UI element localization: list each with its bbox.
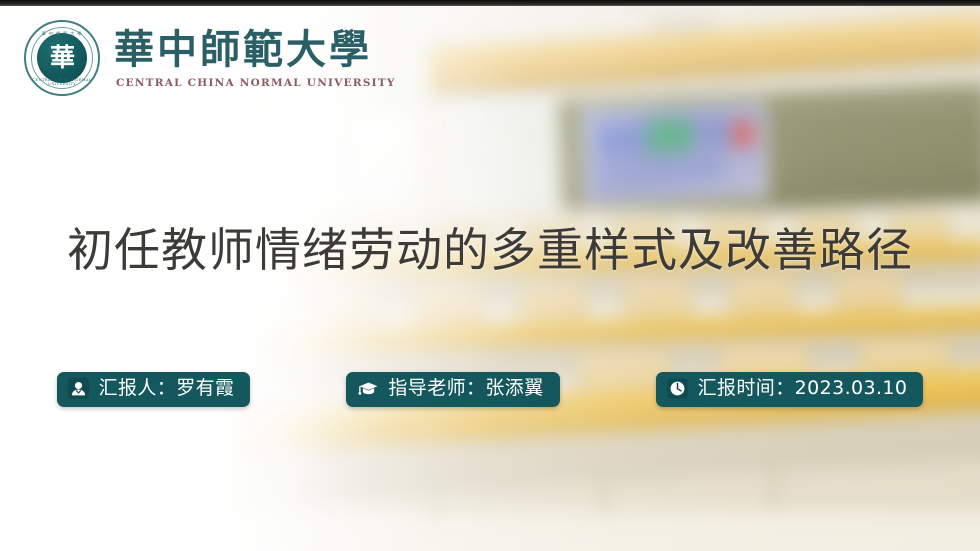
meta-badge-row: 汇报人：罗有霞 指导老师：张添翼 <box>0 372 980 407</box>
presenter-label: 汇报人：罗有霞 <box>99 377 235 401</box>
seal-bottom-text: CENTRAL CHINA NORMAL UNIVERSITY <box>26 78 98 86</box>
university-seal-icon: 華 中 師 範 大 學 華 CENTRAL CHINA NORMAL UNIVE… <box>24 20 100 96</box>
advisor-label: 指导老师：张添翼 <box>388 377 543 401</box>
graduation-cap-icon <box>357 378 379 400</box>
top-letterbox-bar <box>0 0 980 6</box>
presenter-icon <box>68 378 90 400</box>
title-slide: 華 中 師 範 大 學 華 CENTRAL CHINA NORMAL UNIVE… <box>0 0 980 551</box>
seal-top-text: 華 中 師 範 大 學 <box>26 31 98 37</box>
page-title: 初任教师情绪劳动的多重样式及改善路径 <box>0 224 980 277</box>
date-badge[interactable]: 汇报时间：2023.03.10 <box>656 372 924 407</box>
university-name-en: CENTRAL CHINA NORMAL UNIVERSITY <box>116 78 396 89</box>
university-name-block: 華中師範大學 CENTRAL CHINA NORMAL UNIVERSITY <box>114 28 396 88</box>
advisor-badge[interactable]: 指导老师：张添翼 <box>346 372 559 407</box>
date-label: 汇报时间：2023.03.10 <box>698 377 908 401</box>
presenter-badge[interactable]: 汇报人：罗有霞 <box>57 372 251 407</box>
university-logo: 華 中 師 範 大 學 華 CENTRAL CHINA NORMAL UNIVE… <box>24 20 396 96</box>
university-name-cn: 華中師範大學 <box>114 28 396 73</box>
clock-icon <box>667 378 689 400</box>
seal-glyph: 華 <box>50 45 74 70</box>
